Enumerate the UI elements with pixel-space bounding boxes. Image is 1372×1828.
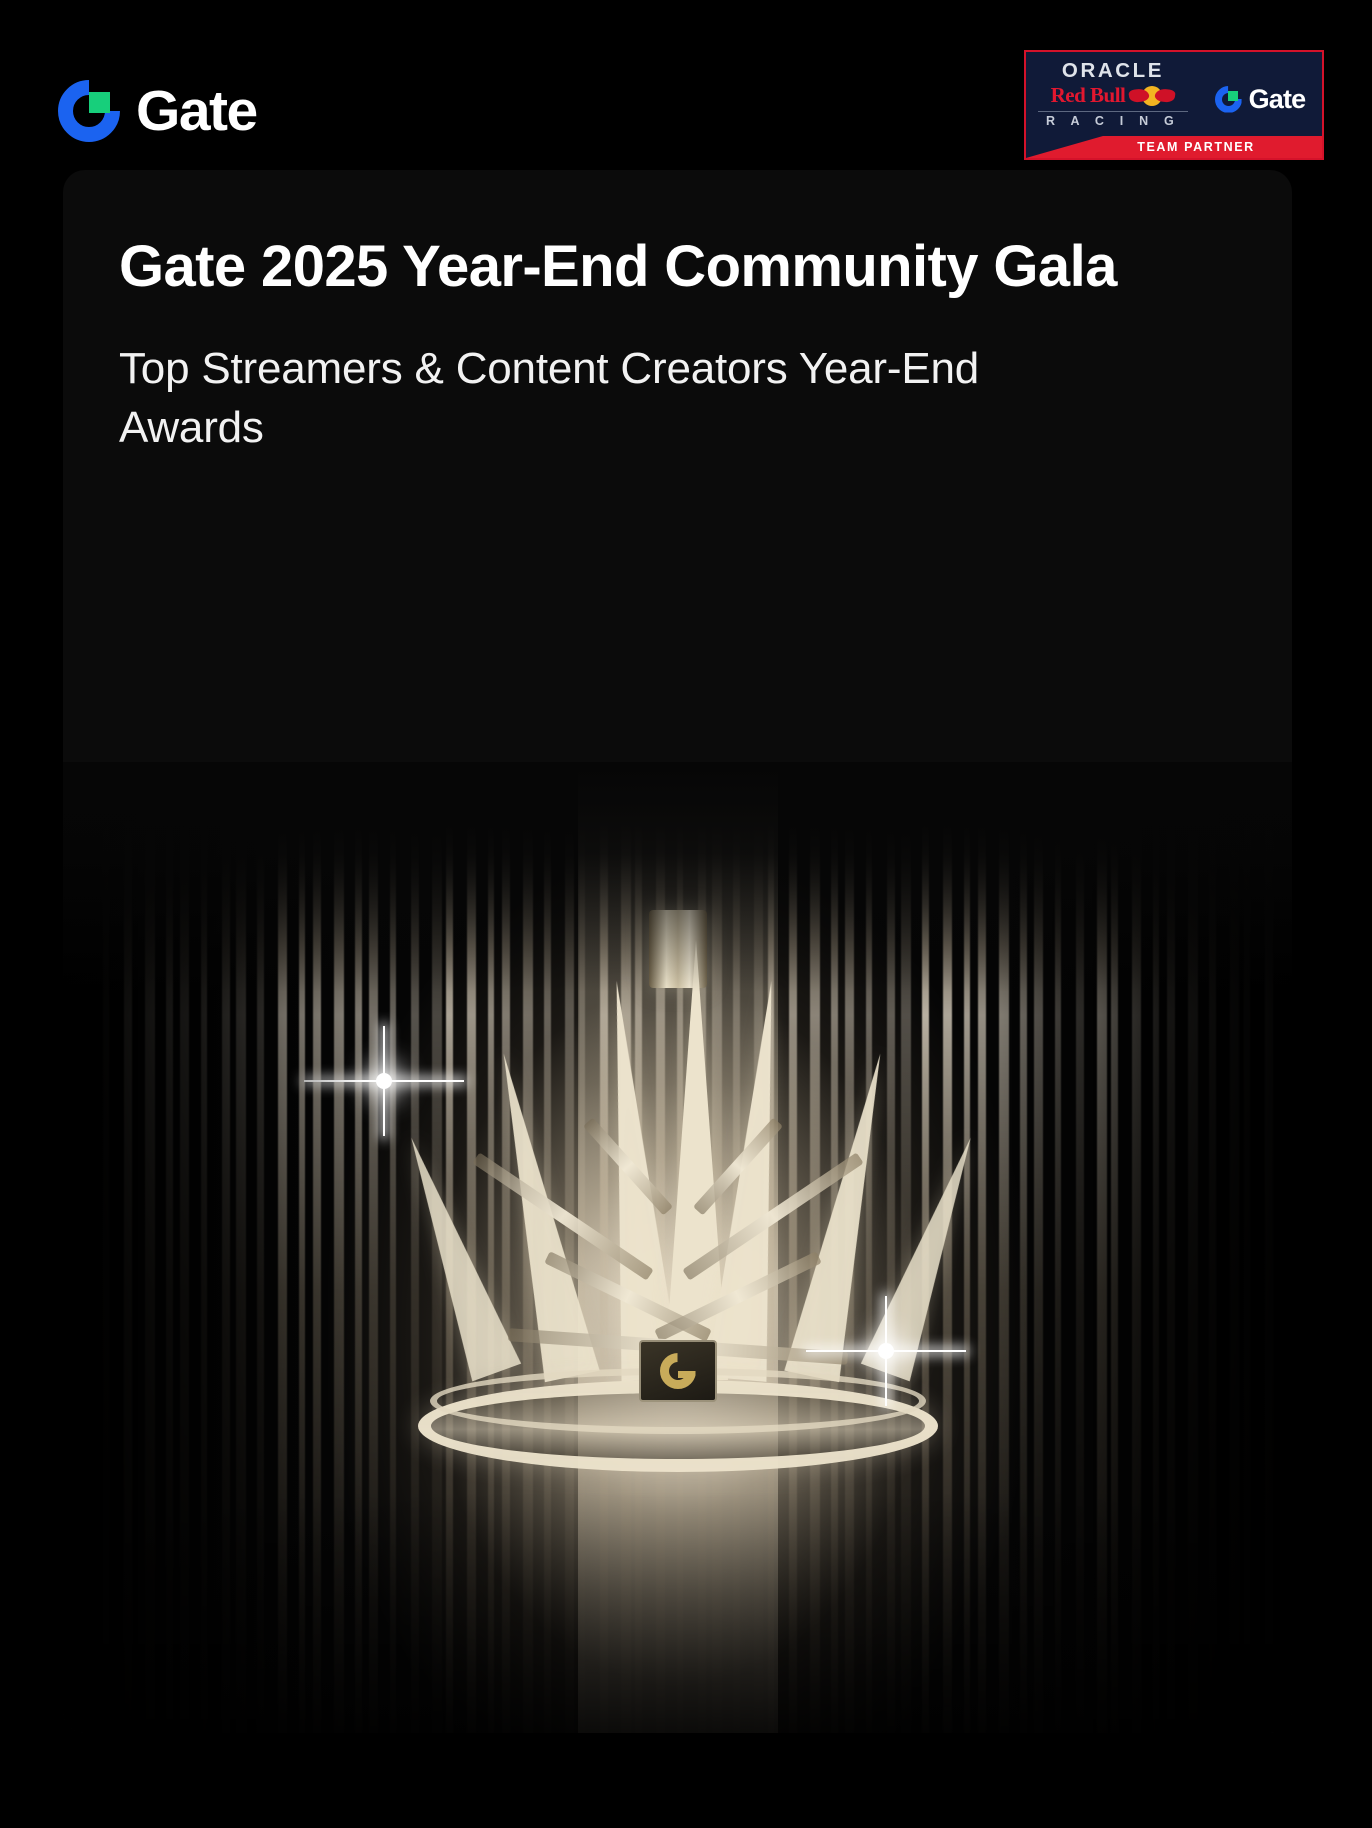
gate-brand-name: Gate — [136, 83, 257, 140]
sparkle-icon — [885, 1350, 887, 1352]
page-header: Gate ORACLE Red Bull R A C I N G — [0, 0, 1372, 170]
card-text-block: Gate 2025 Year-End Community Gala Top St… — [63, 170, 1292, 457]
page-title: Gate 2025 Year-End Community Gala — [119, 230, 1164, 304]
team-partner-label: TEAM PARTNER — [1093, 140, 1255, 154]
event-card[interactable]: Gate 2025 Year-End Community Gala Top St… — [63, 170, 1292, 1733]
sparkle-icon — [383, 1080, 385, 1082]
red-bull-wordmark: Red Bull — [1051, 85, 1126, 106]
gate-logo-icon — [1215, 86, 1242, 113]
oracle-red-bull-racing-partner-badge[interactable]: ORACLE Red Bull R A C I N G — [1024, 50, 1324, 160]
page-subtitle: Top Streamers & Content Creators Year-En… — [119, 340, 1119, 457]
crown-gate-emblem-icon — [639, 1340, 717, 1402]
gate-logo-icon — [58, 80, 120, 142]
vignette-bottom — [63, 1492, 1292, 1733]
crown-trophy — [418, 910, 938, 1530]
vignette-top — [63, 762, 1292, 992]
oracle-wordmark: ORACLE — [1062, 61, 1164, 82]
gate-brand-logo[interactable]: Gate — [58, 80, 257, 142]
racing-wordmark: R A C I N G — [1046, 115, 1180, 128]
poster-page: Gate ORACLE Red Bull R A C I N G — [0, 0, 1372, 1828]
divider — [1038, 111, 1188, 112]
badge-gate-name: Gate — [1249, 84, 1306, 115]
red-bull-icon — [1129, 85, 1175, 107]
hero-crown-image — [63, 762, 1292, 1733]
